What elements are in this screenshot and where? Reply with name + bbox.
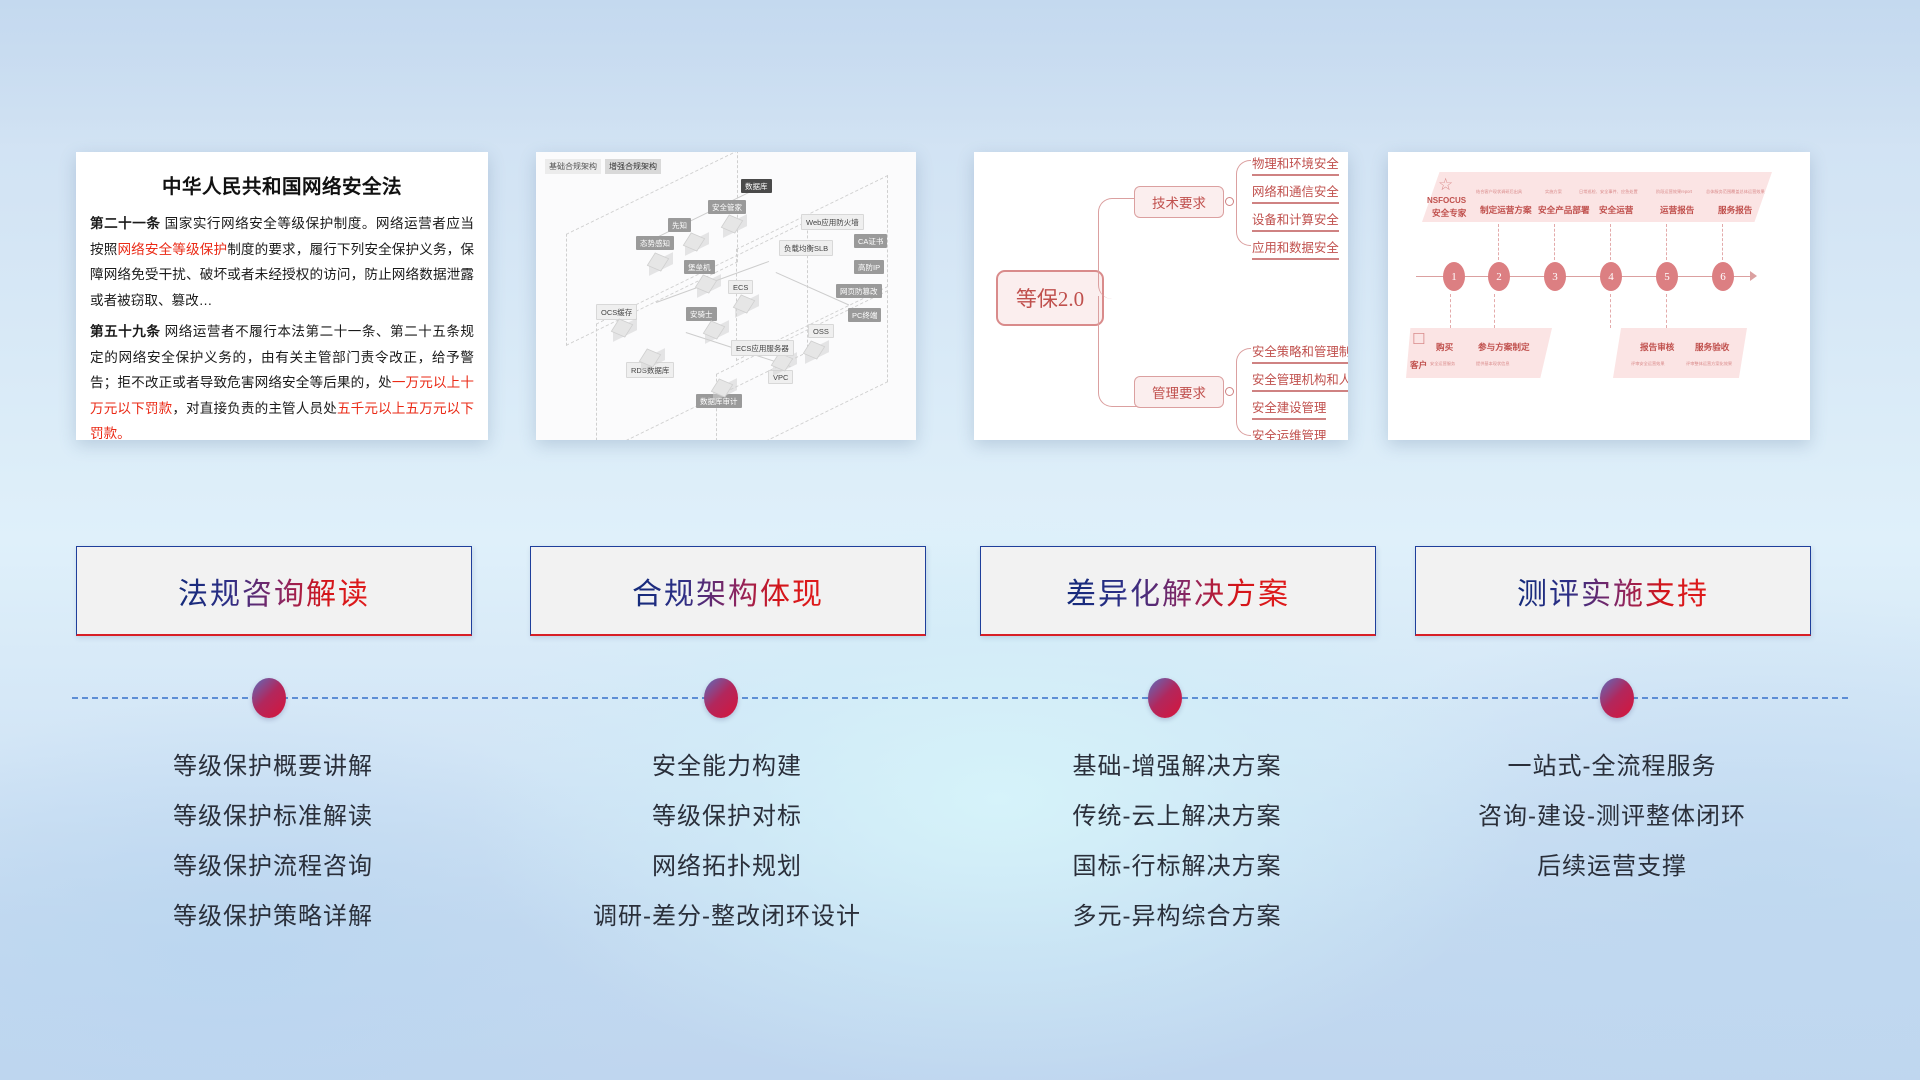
compliance-architecture-card[interactable]: 基础合规架构 增强合规架构 数据库 安全管家 先知 态势感知 堡垒机 (536, 152, 916, 440)
timeline-dot-3[interactable] (1148, 678, 1182, 718)
column-list-4: 一站式-全流程服务 咨询-建设-测评整体闭环 后续运营支撑 (1415, 742, 1809, 892)
slide-canvas: 中华人民共和国网络安全法 第二十一条 国家实行网络安全等级保护制度。网络运营者应… (0, 0, 1920, 1080)
top-step-title: 安全运营 (1599, 204, 1633, 216)
mindmap-branch-management: 管理要求 (1134, 376, 1224, 408)
customer-lane-band-right (1613, 328, 1747, 378)
bottom-step-sub: 提供基本现状信息 (1476, 361, 1510, 367)
list-item: 等级保护流程咨询 (76, 842, 470, 892)
connector-dash (1498, 224, 1500, 260)
bottom-step-title: 服务验收 (1695, 341, 1729, 353)
column-list-2: 安全能力构建 等级保护对标 网络拓扑规划 调研-差分-整改闭环设计 (530, 742, 924, 942)
axis-node: 4 (1600, 262, 1622, 291)
node-label: ECS (728, 280, 753, 294)
list-item: 等级保护策略详解 (76, 892, 470, 942)
mps20-mindmap-card[interactable]: 等保2.0 技术要求 物理和环境安全 网络和通信安全 设备和计算安全 应用和数据… (974, 152, 1348, 440)
mindmap-expand-dot[interactable] (1225, 387, 1234, 396)
connector-dash (1554, 224, 1556, 260)
axis-node: 6 (1712, 262, 1734, 291)
bottom-step-title: 报告审核 (1640, 341, 1674, 353)
mindmap-leaf: 安全策略和管理制度 (1252, 342, 1348, 364)
top-step-sub: 阶段运营效果report (1656, 189, 1692, 195)
mindmap-leaf: 设备和计算安全 (1252, 210, 1339, 232)
node-label: CA证书 (854, 234, 887, 248)
list-item: 安全能力构建 (530, 742, 924, 792)
node-label: 负载均衡SLB (779, 240, 833, 256)
mindmap-curve (1236, 348, 1251, 436)
axis-node: 5 (1656, 262, 1678, 291)
list-item: 调研-差分-整改闭环设计 (530, 892, 924, 942)
axis-node: 2 (1488, 262, 1510, 291)
mindmap-curve (1098, 198, 1139, 299)
bottom-step-title: 参与方案制定 (1478, 341, 1530, 353)
list-item: 国标-行标解决方案 (980, 842, 1374, 892)
timeline-dot-4[interactable] (1600, 678, 1634, 718)
list-item: 多元-异构综合方案 (980, 892, 1374, 942)
law-paragraph-59: 第五十九条 网络运营者不履行本法第二十一条、第二十五条规定的网络安全保护义务的，… (90, 319, 474, 440)
node-label: 网页防篡改 (836, 284, 882, 298)
node-label: 安全管家 (708, 200, 746, 214)
node-label: 先知 (668, 218, 691, 232)
list-item: 等级保护标准解读 (76, 792, 470, 842)
architecture-diagram: 基础合规架构 增强合规架构 数据库 安全管家 先知 态势感知 堡垒机 (536, 152, 916, 440)
node-label: 高防IP (854, 260, 884, 274)
mindmap-expand-dot[interactable] (1225, 197, 1234, 206)
node-label: 堡垒机 (684, 260, 715, 274)
mindmap-leaf: 物理和环境安全 (1252, 154, 1339, 176)
mindmap-leaf: 安全建设管理 (1252, 398, 1326, 420)
list-item: 一站式-全流程服务 (1415, 742, 1809, 792)
timeline-arrow-icon (1750, 271, 1757, 281)
node-label: PC终端 (848, 308, 881, 322)
law-run-highlight: 网络安全等级保护 (117, 242, 227, 257)
law-body: 中华人民共和国网络安全法 第二十一条 国家实行网络安全等级保护制度。网络运营者应… (76, 152, 488, 440)
bottom-step-title: 购买 (1436, 341, 1453, 353)
list-item: 后续运营支撑 (1415, 842, 1809, 892)
mindmap-leaf: 安全运维管理 (1252, 426, 1326, 440)
timeline-dot-2[interactable] (704, 678, 738, 718)
customer-lane-band-left (1406, 328, 1552, 378)
node-label: ECS应用服务器 (731, 340, 794, 356)
customer-lane-name: 客户 (1410, 359, 1427, 371)
cybersecurity-law-card[interactable]: 中华人民共和国网络安全法 第二十一条 国家实行网络安全等级保护制度。网络运营者应… (76, 152, 488, 440)
tab-basic-architecture[interactable]: 基础合规架构 (545, 159, 601, 174)
top-step-title: 安全产品部署 (1538, 204, 1590, 216)
mindmap-branch-technical: 技术要求 (1134, 186, 1224, 218)
column-title-3: 差异化解决方案 (1066, 569, 1290, 613)
law-title: 中华人民共和国网络安全法 (90, 170, 474, 199)
timeline-axis (1416, 276, 1752, 277)
thumbnail-row: 中华人民共和国网络安全法 第二十一条 国家实行网络安全等级保护制度。网络运营者应… (0, 0, 1920, 460)
list-item: 等级保护概要讲解 (76, 742, 470, 792)
timeline-dot-1[interactable] (252, 678, 286, 718)
expert-lane-name-line2: 安全专家 (1432, 207, 1466, 219)
mindmap-leaf: 应用和数据安全 (1252, 238, 1339, 260)
law-run: ，对直接负责的主管人员处 (172, 401, 337, 416)
column-title-box-2[interactable]: 合规架构体现 (530, 546, 926, 636)
connector-dash (1450, 294, 1452, 328)
connector-dash (1610, 224, 1612, 260)
bottom-step-sub: 安全运营服务 (1430, 361, 1455, 367)
list-item: 传统-云上解决方案 (980, 792, 1374, 842)
nsfocus-service-roadmap-card[interactable]: ☆ NSFOCUS 安全专家 结合客户现状调研后出具 制定运营方案 实施方案 安… (1388, 152, 1810, 440)
list-item: 咨询-建设-测评整体闭环 (1415, 792, 1809, 842)
connector-dash (1666, 294, 1668, 328)
expert-lane-name-line1: NSFOCUS (1427, 196, 1466, 205)
top-step-sub: 结合客户现状调研后出具 (1476, 189, 1522, 195)
list-item: 等级保护对标 (530, 792, 924, 842)
column-title-1: 法规咨询解读 (178, 569, 370, 613)
law-article-heading-59: 第五十九条 (90, 324, 160, 339)
axis-node: 1 (1443, 262, 1465, 291)
top-step-title: 运营报告 (1660, 204, 1694, 216)
timeline-dashed-line (72, 697, 1848, 699)
node-label: 数据库 (741, 179, 772, 193)
mindmap-leaf: 安全管理机构和人员 (1252, 370, 1348, 392)
connector-dash (1610, 294, 1612, 328)
tab-enhanced-architecture[interactable]: 增强合规架构 (605, 159, 661, 174)
top-step-title: 制定运营方案 (1480, 204, 1532, 216)
connector-dash (1722, 224, 1724, 260)
top-step-sub: 实施方案 (1545, 189, 1562, 195)
list-item: 基础-增强解决方案 (980, 742, 1374, 792)
bottom-step-sub: 评审安全运营效果 (1631, 361, 1665, 367)
mindmap-curve (1098, 296, 1139, 407)
column-list-3: 基础-增强解决方案 传统-云上解决方案 国标-行标解决方案 多元-异构综合方案 (980, 742, 1374, 942)
top-step-sub: 日常巡检、安全事件、应急处置 (1579, 189, 1638, 195)
node-label: 态势感知 (636, 236, 674, 250)
customer-person-icon: ☐ (1412, 332, 1425, 347)
mindmap-root: 等保2.0 (996, 270, 1104, 326)
column-title-2: 合规架构体现 (632, 569, 824, 613)
column-title-box-3[interactable]: 差异化解决方案 (980, 546, 1376, 636)
list-item: 网络拓扑规划 (530, 842, 924, 892)
bottom-step-sub: 评审整体运营方案化效果 (1686, 361, 1732, 367)
connector-dash (1666, 224, 1668, 260)
law-article-heading-21: 第二十一条 (90, 216, 160, 231)
law-paragraph-21: 第二十一条 国家实行网络安全等级保护制度。网络运营者应当按照网络安全等级保护制度… (90, 211, 474, 313)
node-label: Web应用防火墙 (801, 214, 864, 230)
column-title-box-1[interactable]: 法规咨询解读 (76, 546, 472, 636)
axis-node: 3 (1544, 262, 1566, 291)
mindmap-leaf: 网络和通信安全 (1252, 182, 1339, 204)
column-title-4: 测评实施支持 (1517, 569, 1709, 613)
top-step-title: 服务报告 (1718, 204, 1752, 216)
column-list-1: 等级保护概要讲解 等级保护标准解读 等级保护流程咨询 等级保护策略详解 (76, 742, 470, 942)
node-label: OSS (808, 324, 834, 338)
service-roadmap: ☆ NSFOCUS 安全专家 结合客户现状调研后出具 制定运营方案 实施方案 安… (1388, 152, 1810, 440)
expert-person-icon: ☆ (1438, 176, 1453, 193)
connector-dash (1494, 294, 1496, 328)
top-step-sub: 总体服务范围覆盖总体运营效果 (1706, 189, 1765, 195)
mindmap: 等保2.0 技术要求 物理和环境安全 网络和通信安全 设备和计算安全 应用和数据… (974, 152, 1348, 440)
node-label: 安骑士 (686, 307, 717, 321)
column-title-box-4[interactable]: 测评实施支持 (1415, 546, 1811, 636)
architecture-tabs: 基础合规架构 增强合规架构 (545, 159, 661, 174)
mindmap-curve (1236, 160, 1251, 246)
